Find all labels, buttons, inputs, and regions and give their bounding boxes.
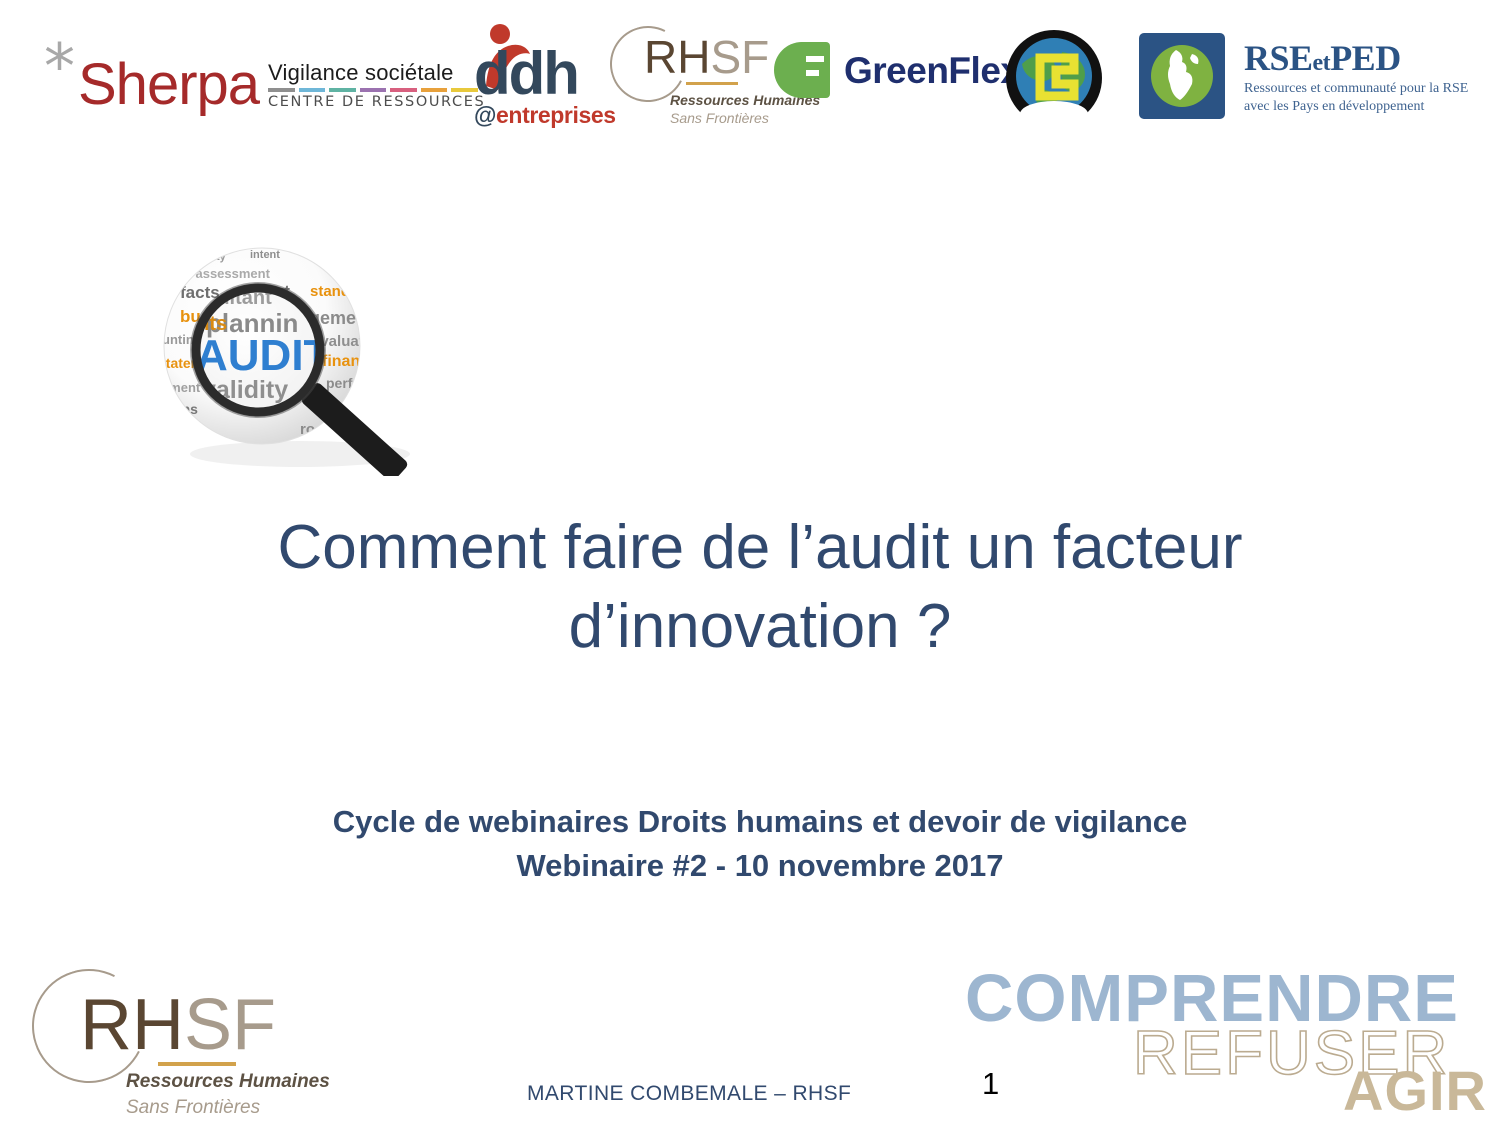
rhsf-footer-gold-rule <box>158 1062 236 1066</box>
logo-rhsf-footer: RHSF Ressources Humaines Sans Frontières <box>18 955 298 1120</box>
ddh-subtitle: @entreprises <box>474 104 616 127</box>
svg-text:assessment: assessment <box>210 467 296 476</box>
globe-c-icon <box>1004 28 1104 128</box>
slide-subtitle: Cycle de webinaires Droits humains et de… <box>150 800 1370 888</box>
ddh-wordmark: ddh <box>474 44 578 104</box>
svg-text:nion: nion <box>166 466 193 476</box>
rhsf-sf-letters: SF <box>710 31 769 83</box>
rseped-wordmark: RSEetPED <box>1244 40 1401 76</box>
sherpa-star-icon: * <box>44 36 75 98</box>
rseped-subtitle: Ressources et communauté pour la RSE ave… <box>1244 80 1468 115</box>
rseped-rse: RSE <box>1244 38 1313 78</box>
comprendre-refuser-agir-graphic: COMPRENDRE REFUSER AGIR <box>965 965 1500 1125</box>
svg-text:standards: standards <box>310 283 382 300</box>
slide-title-line-1: Comment faire de l’audit un facteur <box>150 508 1370 587</box>
greenflex-mark-icon <box>772 40 832 100</box>
slide-subtitle-line-1: Cycle de webinaires Droits humains et de… <box>150 800 1370 844</box>
svg-text:intent: intent <box>250 249 280 261</box>
rhsf-footer-wordmark: RHSF <box>80 989 276 1061</box>
svg-text:ncerns: ncerns <box>152 401 198 417</box>
svg-text:financia: financia <box>322 353 383 370</box>
rhsf-footer-sf-letters: SF <box>184 985 276 1065</box>
author-footer: MARTINE COMBEMALE – RHSF <box>527 1082 851 1106</box>
ddh-at-symbol: @ <box>474 102 496 128</box>
sherpa-color-dashes <box>268 88 478 92</box>
rhsf-wordmark: RHSF <box>644 34 769 80</box>
svg-text:AUDIT: AUDIT <box>196 331 331 380</box>
greenflex-wordmark: GreenFlex <box>844 52 1020 89</box>
logo-rse-et-ped: RSEetPED Ressources et communauté pour l… <box>1132 18 1472 146</box>
rhsf-rh-letters: RH <box>644 31 710 83</box>
logo-greenflex: GreenFlex <box>772 18 1002 146</box>
partner-logo-strip: * Sherpa Vigilance sociétale CENTRE DE R… <box>0 18 1500 146</box>
rhsf-gold-rule <box>686 82 738 85</box>
rseped-subtitle-line-1: Ressources et communauté pour la RSE <box>1244 80 1468 98</box>
sherpa-tagline: Vigilance sociétale <box>268 60 478 85</box>
rseped-et: et <box>1313 50 1331 76</box>
svg-text:luation: luation <box>150 423 199 440</box>
rseped-subtitle-line-2: avec les Pays en développement <box>1244 98 1468 116</box>
rhsf-footer-tagline-1: Ressources Humaines <box>126 1071 330 1093</box>
svg-text:gement: gement <box>154 380 201 395</box>
logo-ddh-entreprises: ddh @entreprises <box>472 18 602 146</box>
agir-word: AGIR <box>1343 1063 1487 1119</box>
logo-rhsf-header: RHSF Ressources Humaines Sans Frontières <box>608 18 768 146</box>
sherpa-subtagline: CENTRE DE RESSOURCES <box>268 94 478 110</box>
rhsf-footer-rh-letters: RH <box>80 985 184 1065</box>
slide-title-line-2: d’innovation ? <box>150 587 1370 666</box>
rhsf-tagline-2: Sans Frontières <box>670 110 769 126</box>
slide-title: Comment faire de l’audit un facteur d’in… <box>150 508 1370 667</box>
sherpa-tagline-group: Vigilance sociétale CENTRE DE RESSOURCES <box>268 60 478 110</box>
rseped-globe-icon <box>1136 30 1228 122</box>
svg-text:perfor: perfor <box>326 375 367 391</box>
logo-sherpa: * Sherpa Vigilance sociétale CENTRE DE R… <box>30 18 470 146</box>
audit-word-sphere-image: ability intent on assessment facts repor… <box>150 238 470 476</box>
slide-subtitle-line-2: Webinaire #2 - 10 novembre 2017 <box>150 844 1370 888</box>
sherpa-wordmark: Sherpa <box>78 56 259 114</box>
rseped-ped: PED <box>1330 38 1401 78</box>
slide-canvas: * Sherpa Vigilance sociétale CENTRE DE R… <box>0 0 1500 1125</box>
ddh-subtitle-text: entreprises <box>496 102 616 128</box>
rhsf-footer-tagline-2: Sans Frontières <box>126 1097 260 1119</box>
logo-globe-c <box>1004 18 1109 146</box>
